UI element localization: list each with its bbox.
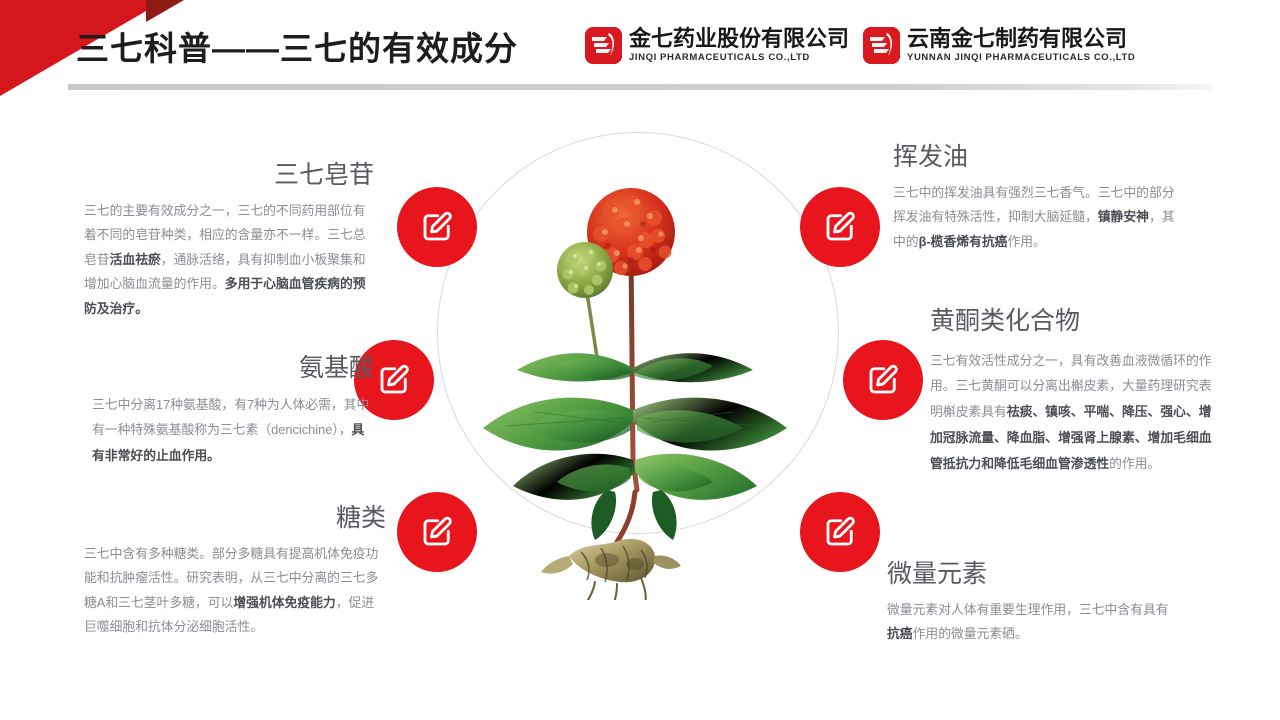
flavonoid-text-2: 的作用。 bbox=[1109, 456, 1160, 471]
block-body-trace-element: 微量元素对人体有重要生理作用，三七中含有具有抗癌作用的微量元素硒。 bbox=[887, 598, 1177, 648]
badge-edit-volatile-oil[interactable] bbox=[800, 187, 880, 267]
badge-edit-trace-element[interactable] bbox=[800, 492, 880, 572]
header-divider bbox=[68, 84, 1212, 90]
block-title-saponin: 三七皂苷 bbox=[84, 162, 374, 190]
block-title-flavonoid: 黄酮类化合物 bbox=[930, 308, 1220, 336]
oil-bold-2: β-榄香烯有抗癌 bbox=[919, 234, 1008, 249]
block-body-sugar: 三七中含有多种糖类。部分多糖具有提高机体免疫功能和抗肿瘤活性。研究表明，从三七中… bbox=[84, 542, 386, 640]
block-title-sugar: 糖类 bbox=[84, 505, 386, 533]
logo-yunnan-jinqi-text: 云南金七制药有限公司 YUNNAN JINQI PHARMACEUTICALS … bbox=[907, 28, 1135, 63]
block-body-flavonoid: 三七有效活性成分之一，具有改善血液微循环的作用。三七黄酮可以分离出槲皮素，大量药… bbox=[930, 348, 1220, 477]
block-title-trace-element: 微量元素 bbox=[887, 561, 1177, 589]
logo-yunnan-jinqi-en: YUNNAN JINQI PHARMACEUTICALS CO.,LTD bbox=[907, 53, 1135, 63]
amino-text-1: 三七中分离17种氨基酸，有7种为人体必需，其中有一种特殊氨基酸称为三七素（den… bbox=[92, 397, 369, 438]
block-body-saponin: 三七的主要有效成分之一，三七的不同药用部位有着不同的皂苷种类，相应的含量亦不一样… bbox=[84, 199, 374, 322]
edit-square-icon bbox=[822, 514, 858, 550]
block-title-amino-acid: 氨基酸 bbox=[92, 355, 374, 383]
corner-triangle-dark-red bbox=[146, 0, 184, 22]
badge-edit-saponin[interactable] bbox=[397, 187, 477, 267]
trace-text-2: 作用的微量元素硒。 bbox=[913, 626, 1028, 641]
content-block-amino-acid: 氨基酸 三七中分离17种氨基酸，有7种为人体必需，其中有一种特殊氨基酸称为三七素… bbox=[92, 355, 374, 468]
edit-square-icon bbox=[822, 209, 858, 245]
block-body-amino-acid: 三七中分离17种氨基酸，有7种为人体必需，其中有一种特殊氨基酸称为三七素（den… bbox=[92, 392, 374, 469]
content-block-volatile-oil: 挥发油 三七中的挥发油具有强烈三七香气。三七中的部分挥发油有特殊活性，抑制大脑延… bbox=[893, 144, 1177, 255]
edit-square-icon bbox=[865, 362, 901, 398]
saponin-bold-1: 活血祛瘀 bbox=[110, 252, 161, 267]
panax-notoginseng-plant-illustration bbox=[465, 160, 815, 600]
edit-square-icon bbox=[376, 362, 412, 398]
block-title-volatile-oil: 挥发油 bbox=[893, 144, 1177, 172]
logo-jinqi-pharmaceuticals: 金七药业股份有限公司 JINQI PHARMACEUTICALS CO.,LTD bbox=[585, 27, 849, 64]
edit-square-icon bbox=[419, 209, 455, 245]
content-block-sugar: 糖类 三七中含有多种糖类。部分多糖具有提高机体免疫功能和抗肿瘤活性。研究表明，从… bbox=[84, 505, 386, 640]
edit-square-icon bbox=[419, 514, 455, 550]
logo-jinqi-cn: 金七药业股份有限公司 bbox=[629, 28, 849, 50]
jinqi-logo-mark-icon bbox=[585, 27, 622, 64]
logo-row: 金七药业股份有限公司 JINQI PHARMACEUTICALS CO.,LTD… bbox=[585, 22, 1135, 68]
logo-jinqi-text: 金七药业股份有限公司 JINQI PHARMACEUTICALS CO.,LTD bbox=[629, 28, 849, 63]
yunnan-jinqi-logo-mark-icon bbox=[863, 27, 900, 64]
trace-bold-1: 抗癌 bbox=[887, 626, 913, 641]
logo-yunnan-jinqi-pharmaceuticals: 云南金七制药有限公司 YUNNAN JINQI PHARMACEUTICALS … bbox=[863, 27, 1135, 64]
oil-bold-1: 镇静安神 bbox=[1098, 209, 1149, 224]
badge-edit-sugar[interactable] bbox=[397, 492, 477, 572]
oil-text-3: 作用。 bbox=[1007, 234, 1045, 249]
block-body-volatile-oil: 三七中的挥发油具有强烈三七香气。三七中的部分挥发油有特殊活性，抑制大脑延髓，镇静… bbox=[893, 181, 1177, 256]
content-block-saponin: 三七皂苷 三七的主要有效成分之一，三七的不同药用部位有着不同的皂苷种类，相应的含… bbox=[84, 162, 374, 321]
page-title: 三七科普——三七的有效成分 bbox=[76, 22, 518, 70]
content-block-flavonoid: 黄酮类化合物 三七有效活性成分之一，具有改善血液微循环的作用。三七黄酮可以分离出… bbox=[930, 308, 1220, 477]
logo-jinqi-en: JINQI PHARMACEUTICALS CO.,LTD bbox=[629, 53, 849, 63]
logo-yunnan-jinqi-cn: 云南金七制药有限公司 bbox=[907, 28, 1135, 50]
sugar-bold-1: 增强机体免疫能力 bbox=[233, 595, 335, 610]
trace-text-1: 微量元素对人体有重要生理作用，三七中含有具有 bbox=[887, 602, 1169, 617]
badge-edit-flavonoid[interactable] bbox=[843, 340, 923, 420]
content-block-trace-element: 微量元素 微量元素对人体有重要生理作用，三七中含有具有抗癌作用的微量元素硒。 bbox=[887, 561, 1177, 647]
